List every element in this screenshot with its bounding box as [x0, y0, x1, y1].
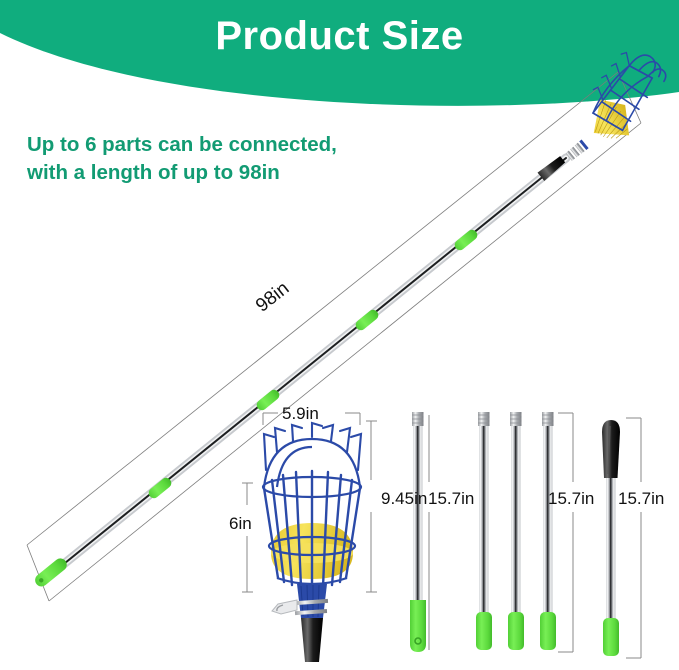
product-size-infographic: Product Size Up to 6 parts can be connec…	[0, 0, 679, 670]
label-pole-1-15-7in: 15.7in	[428, 489, 474, 509]
basket-collar	[272, 584, 328, 662]
label-5-9in: 5.9in	[282, 404, 319, 424]
pole-segment-2	[476, 412, 492, 650]
basket-large	[242, 413, 377, 662]
segment-5-black-cap	[602, 420, 620, 478]
dimension-pole-right	[626, 418, 641, 658]
segment-2-ferrule	[478, 412, 490, 426]
dimension-pole-middle	[558, 413, 573, 652]
segment-1-grip	[410, 600, 426, 652]
assembled-pole	[33, 139, 589, 589]
segment-1-ferrule	[412, 412, 424, 426]
dimension-9-45in	[366, 421, 377, 592]
segment-3-grip	[508, 612, 524, 650]
pole-segment-1	[410, 412, 429, 652]
pole-segment-3	[508, 412, 524, 650]
collar-clip	[272, 600, 297, 614]
segment-5-grip	[603, 618, 619, 656]
page-title: Product Size	[0, 14, 679, 59]
pole-segment-5	[602, 418, 641, 658]
pole-black-ferrule	[538, 155, 567, 181]
label-pole-middle-15-7in: 15.7in	[548, 489, 594, 509]
label-6in: 6in	[229, 514, 252, 534]
dimension-6in	[242, 483, 253, 592]
pole-segment-4	[540, 412, 573, 652]
label-9-45in: 9.45in	[381, 489, 427, 509]
product-artwork	[0, 0, 679, 670]
cushion-small	[580, 90, 642, 152]
segment-4-grip	[540, 612, 556, 650]
segment-4-ferrule	[542, 412, 554, 426]
segment-2-grip	[476, 612, 492, 650]
wire-cage-large	[264, 471, 360, 588]
label-pole-right-15-7in: 15.7in	[618, 489, 664, 509]
segment-3-ferrule	[510, 412, 522, 426]
cage-tines-large	[264, 423, 361, 470]
